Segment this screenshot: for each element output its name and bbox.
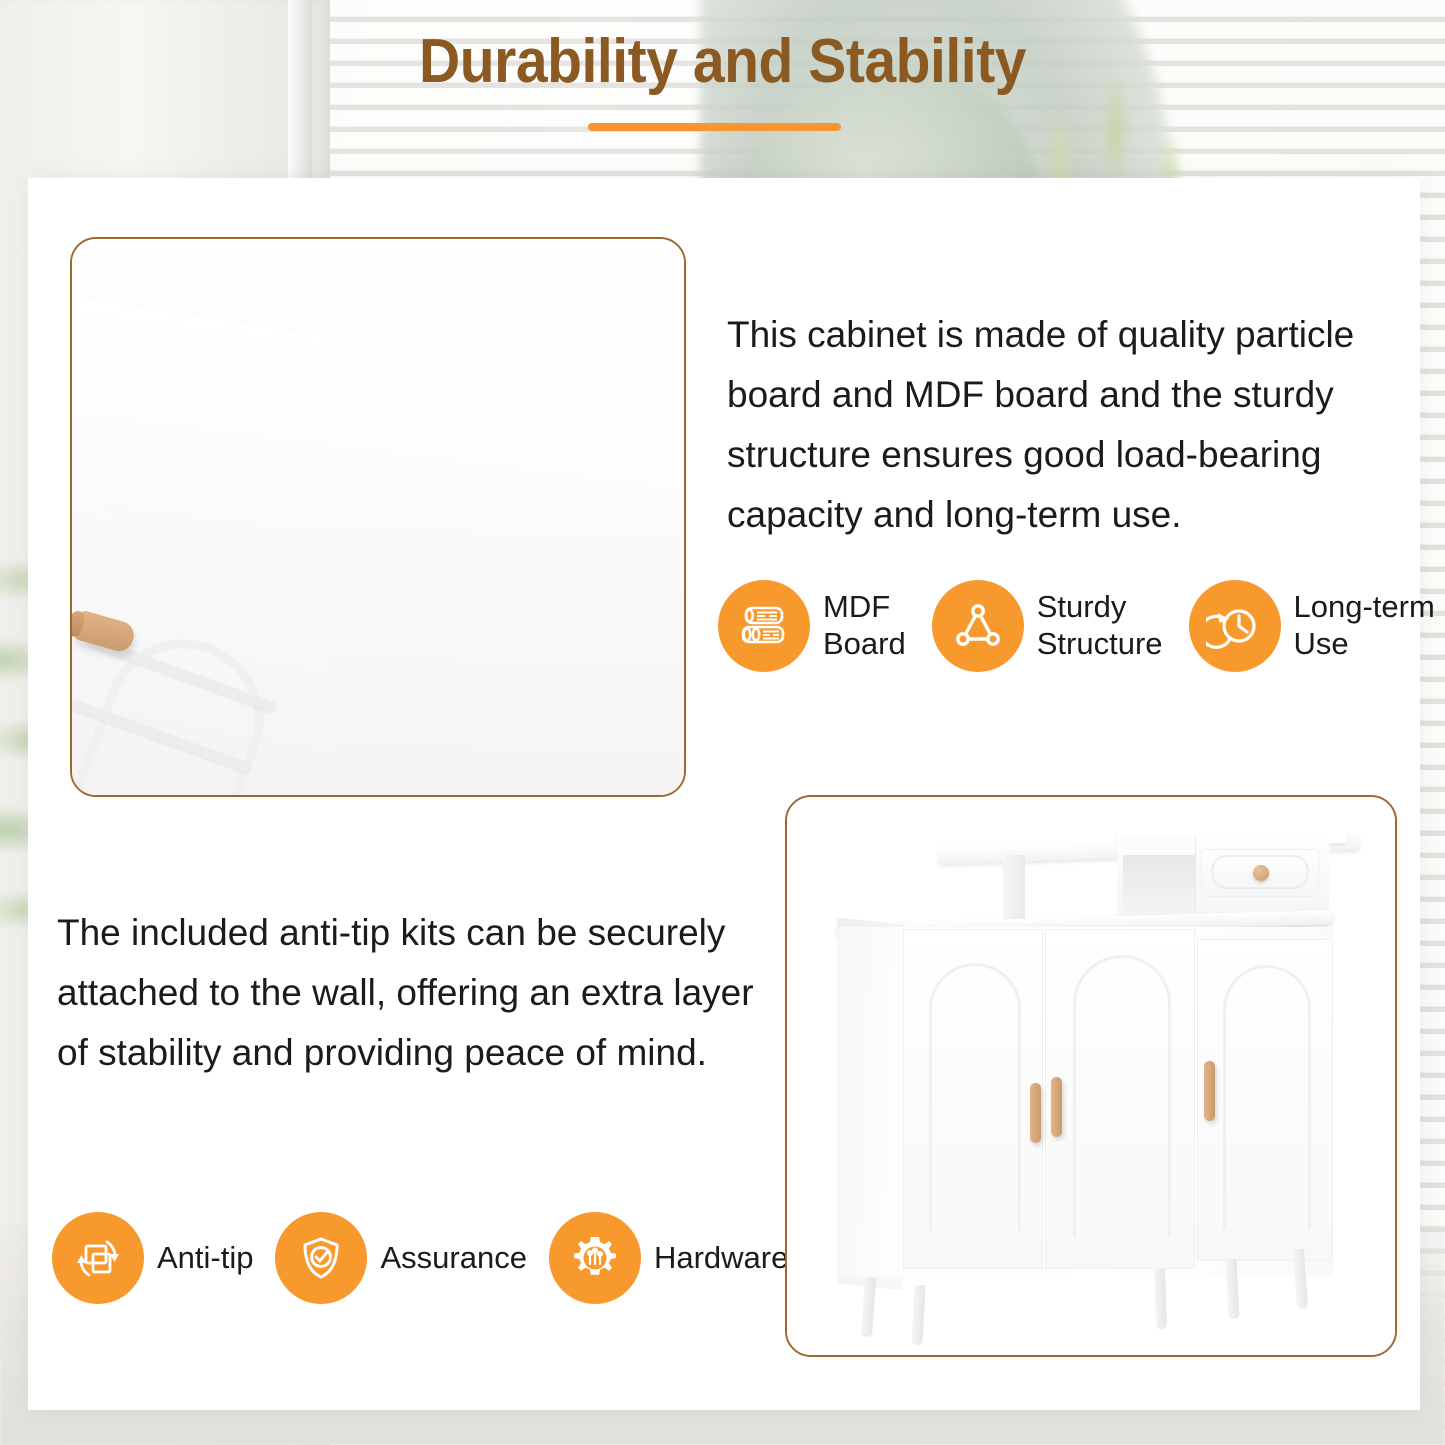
page-title: Durability and Stability (58, 26, 1387, 97)
feature-label: Long-term Use (1294, 589, 1435, 662)
feature-label: Assurance (380, 1240, 526, 1277)
bottom-description-paragraph: The included anti-tip kits can be secure… (57, 903, 757, 1083)
feature-mdf-board: MDF Board (718, 580, 906, 672)
cabinet-drawer-knob (1253, 865, 1269, 881)
cabinet-side-panel (312, 463, 686, 797)
feature-label: Sturdy Structure (1037, 589, 1163, 662)
full-cabinet-product-image (787, 797, 1395, 1355)
cabinet-door-arch-left (929, 963, 1021, 1231)
feature-label: MDF Board (823, 589, 906, 662)
cabinet-leg-2 (911, 1285, 925, 1345)
gear-circuit-icon (549, 1212, 641, 1304)
feature-sturdy-structure: Sturdy Structure (932, 580, 1163, 672)
feature-hardware: Hardware (549, 1212, 788, 1304)
cabinet-corner-closeup-image (72, 239, 684, 795)
bottom-feature-row: Anti-tip Assurance (52, 1212, 788, 1304)
product-photo-frame (785, 795, 1397, 1357)
feature-assurance: Assurance (275, 1212, 526, 1304)
cabinet-handle-left (1030, 1083, 1041, 1143)
cabinet-door-arch-center (1073, 955, 1171, 1237)
anti-tip-rotate-icon (52, 1212, 144, 1304)
shield-check-icon (275, 1212, 367, 1304)
top-feature-row: MDF Board Sturdy Structure (718, 580, 1435, 672)
feature-anti-tip: Anti-tip (52, 1212, 253, 1304)
feature-label: Anti-tip (157, 1240, 253, 1277)
cabinet-door-arch-right (1223, 965, 1311, 1229)
triangle-structure-icon (932, 580, 1024, 672)
logs-icon (718, 580, 810, 672)
clock-history-icon (1189, 580, 1281, 672)
detail-photo-frame (70, 237, 686, 797)
top-description-paragraph: This cabinet is made of quality particle… (727, 305, 1387, 545)
cabinet-handle-right (1204, 1061, 1215, 1121)
title-underline (588, 123, 841, 131)
cabinet-leg-3 (1154, 1269, 1167, 1329)
feature-long-term-use: Long-term Use (1189, 580, 1435, 672)
feature-label: Hardware (654, 1240, 788, 1277)
cabinet-handle-center (1051, 1077, 1062, 1137)
infographic-page: Durability and Stability This cabinet is… (0, 0, 1445, 1445)
